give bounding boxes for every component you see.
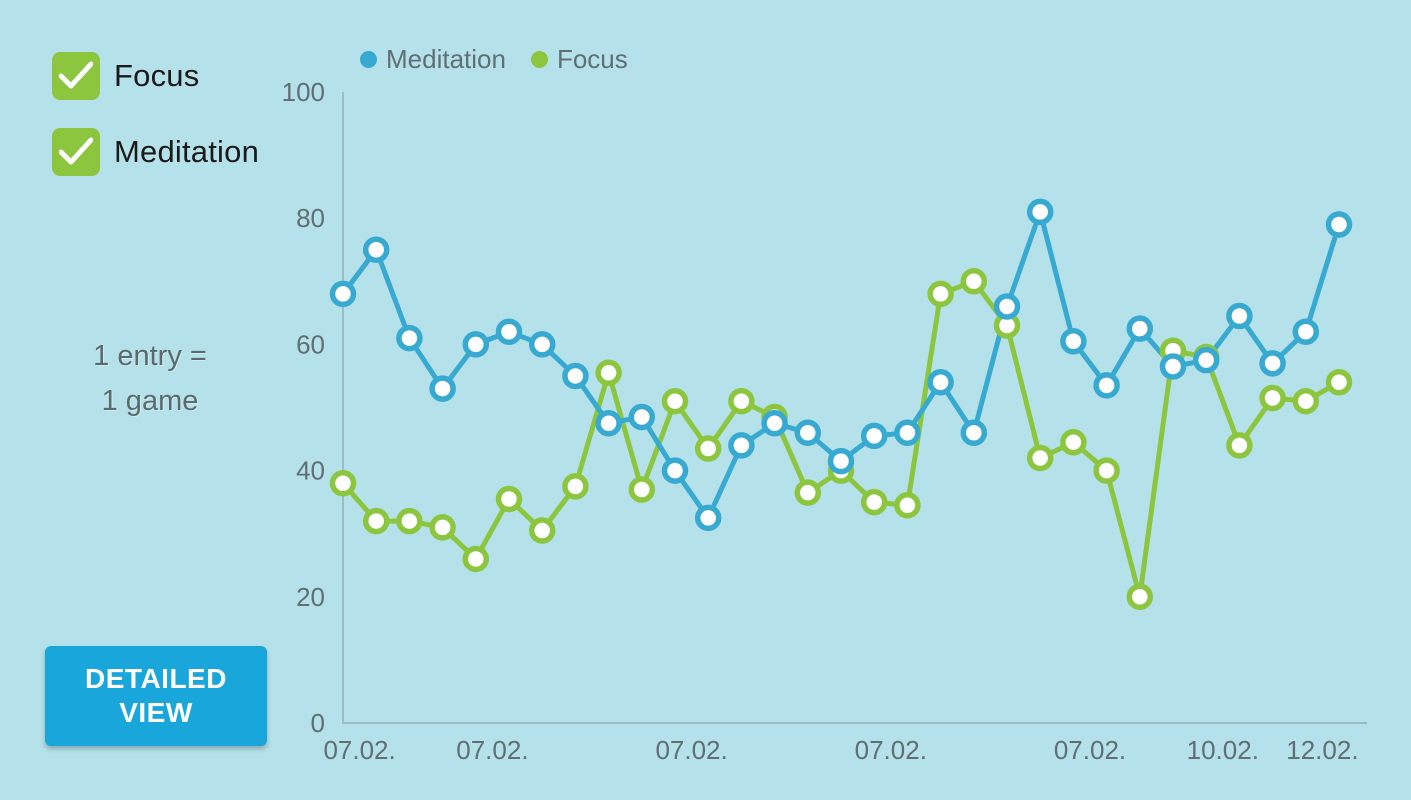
data-point-marker[interactable] (930, 283, 951, 304)
detailed-view-button[interactable]: DETAILED VIEW (45, 646, 267, 746)
entry-ratio-line-2: 1 game (0, 379, 300, 424)
data-point-marker[interactable] (731, 435, 752, 456)
data-point-marker[interactable] (1030, 201, 1051, 222)
data-point-marker[interactable] (631, 479, 652, 500)
app-root: Focus Meditation 1 entry = 1 game DETAIL… (0, 0, 1411, 800)
data-point-marker[interactable] (930, 372, 951, 393)
data-point-marker[interactable] (831, 451, 852, 472)
data-point-marker[interactable] (631, 406, 652, 427)
data-point-marker[interactable] (731, 391, 752, 412)
data-point-marker[interactable] (366, 239, 387, 260)
data-point-marker[interactable] (797, 422, 818, 443)
data-point-marker[interactable] (499, 321, 520, 342)
data-point-marker[interactable] (897, 422, 918, 443)
data-point-marker[interactable] (864, 425, 885, 446)
chart-panel: Meditation Focus 02040608010007.02.07.02… (280, 0, 1411, 800)
data-point-marker[interactable] (1295, 321, 1316, 342)
check-icon (59, 137, 93, 167)
y-axis-tick-label: 100 (282, 77, 325, 107)
data-point-marker[interactable] (532, 520, 553, 541)
data-point-marker[interactable] (333, 473, 354, 494)
data-point-marker[interactable] (432, 517, 453, 538)
data-point-marker[interactable] (764, 413, 785, 434)
x-axis-tick-label: 07.02. (655, 735, 727, 765)
checkbox-row-meditation[interactable]: Meditation (52, 128, 259, 176)
check-icon (59, 61, 93, 91)
data-point-marker[interactable] (864, 492, 885, 513)
data-point-marker[interactable] (532, 334, 553, 355)
entry-ratio-line-1: 1 entry = (0, 334, 300, 379)
data-point-marker[interactable] (1129, 586, 1150, 607)
data-point-marker[interactable] (565, 365, 586, 386)
data-point-marker[interactable] (665, 460, 686, 481)
data-point-marker[interactable] (333, 283, 354, 304)
data-point-marker[interactable] (997, 296, 1018, 317)
data-point-marker[interactable] (1295, 391, 1316, 412)
data-point-marker[interactable] (1030, 447, 1051, 468)
data-point-marker[interactable] (1096, 375, 1117, 396)
data-point-marker[interactable] (1262, 388, 1283, 409)
data-point-marker[interactable] (465, 548, 486, 569)
sidebar: Focus Meditation 1 entry = 1 game DETAIL… (0, 0, 300, 800)
data-point-marker[interactable] (565, 476, 586, 497)
data-point-marker[interactable] (1163, 356, 1184, 377)
entry-ratio-note: 1 entry = 1 game (0, 334, 300, 424)
y-axis-tick-label: 80 (296, 203, 325, 233)
data-point-marker[interactable] (465, 334, 486, 355)
data-point-marker[interactable] (1129, 318, 1150, 339)
data-point-marker[interactable] (698, 507, 719, 528)
data-point-marker[interactable] (1229, 306, 1250, 327)
checkbox-row-focus[interactable]: Focus (52, 52, 199, 100)
detailed-view-label-line-2: VIEW (45, 696, 267, 730)
y-axis-tick-label: 40 (296, 456, 325, 486)
series-line-focus (343, 281, 1339, 597)
data-point-marker[interactable] (1096, 460, 1117, 481)
data-point-marker[interactable] (1063, 331, 1084, 352)
meditation-checkbox[interactable] (52, 128, 100, 176)
x-axis-tick-label: 07.02. (855, 735, 927, 765)
data-point-marker[interactable] (698, 438, 719, 459)
data-point-marker[interactable] (897, 495, 918, 516)
data-point-marker[interactable] (399, 328, 420, 349)
data-point-marker[interactable] (366, 511, 387, 532)
data-point-marker[interactable] (598, 362, 619, 383)
data-point-marker[interactable] (665, 391, 686, 412)
data-point-marker[interactable] (399, 511, 420, 532)
y-axis-tick-label: 0 (311, 708, 325, 738)
y-axis-tick-label: 20 (296, 582, 325, 612)
data-point-marker[interactable] (1262, 353, 1283, 374)
x-axis-tick-label: 07.02. (323, 735, 395, 765)
x-axis-tick-label: 10.02. (1187, 735, 1259, 765)
meditation-checkbox-label: Meditation (114, 134, 259, 170)
data-point-marker[interactable] (963, 271, 984, 292)
focus-checkbox[interactable] (52, 52, 100, 100)
y-axis-tick-label: 60 (296, 329, 325, 359)
data-point-marker[interactable] (1229, 435, 1250, 456)
data-point-marker[interactable] (432, 378, 453, 399)
detailed-view-label-line-1: DETAILED (45, 662, 267, 696)
data-point-marker[interactable] (598, 413, 619, 434)
x-axis-tick-label: 07.02. (1054, 735, 1126, 765)
x-axis-tick-label: 12.02. (1286, 735, 1358, 765)
data-point-marker[interactable] (963, 422, 984, 443)
data-point-marker[interactable] (797, 482, 818, 503)
data-point-marker[interactable] (499, 488, 520, 509)
chart-axes (343, 92, 1367, 723)
line-chart-plot[interactable]: 02040608010007.02.07.02.07.02.07.02.07.0… (280, 0, 1411, 800)
data-point-marker[interactable] (1329, 372, 1350, 393)
data-point-marker[interactable] (1329, 214, 1350, 235)
focus-checkbox-label: Focus (114, 58, 199, 94)
data-point-marker[interactable] (1063, 432, 1084, 453)
x-axis-tick-label: 07.02. (456, 735, 528, 765)
data-point-marker[interactable] (1196, 350, 1217, 371)
